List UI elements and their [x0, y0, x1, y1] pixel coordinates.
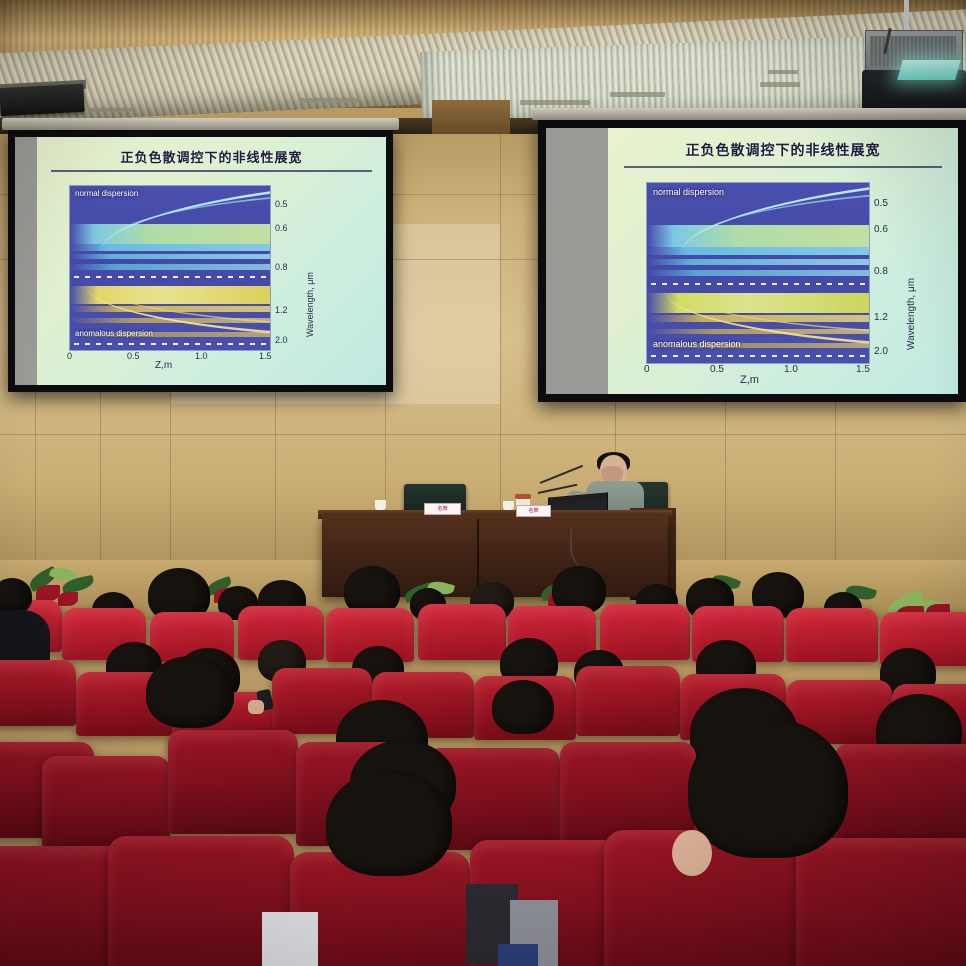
- water-cup-left[interactable]: [375, 500, 386, 510]
- ceiling-vent-6: [88, 108, 136, 112]
- right-slide: 正负色散调控下的非线性展宽: [608, 128, 958, 394]
- right-xtick-3: 1.5: [856, 364, 870, 375]
- left-xaxis-label: Z,m: [155, 360, 172, 371]
- left-xtick-0: 0: [67, 351, 72, 361]
- plot-label-anomalous-dispersion: anomalous dispersion: [75, 330, 153, 338]
- audience-seat[interactable]: [600, 604, 690, 660]
- audience-seat[interactable]: [576, 666, 680, 736]
- audience-head: [0, 578, 32, 614]
- plot-dashed-line-mid: [74, 276, 270, 278]
- right-xtick-1: 0.5: [710, 364, 724, 375]
- right-ytick-3: 1.2: [874, 312, 888, 323]
- left-xtick-3: 1.5: [259, 351, 272, 361]
- plot-label-normal-dispersion: normal dispersion: [75, 190, 138, 198]
- left-ytick-3: 1.2: [275, 305, 288, 315]
- right-slide-plot: normal dispersion anomalous dispersion: [646, 182, 870, 364]
- presenter-face: [601, 466, 623, 482]
- ceiling-vent-5: [768, 70, 798, 74]
- plot-label-anomalous-dispersion: anomalous dispersion: [653, 340, 741, 349]
- plot-band-cyan-3: [70, 264, 270, 270]
- right-xtick-2: 1.0: [784, 364, 798, 375]
- left-projection-screen[interactable]: 正负色散调控下的非线性展宽: [8, 130, 393, 392]
- audience-hand: [248, 700, 264, 714]
- audience-head: [146, 656, 234, 728]
- right-slide-title: 正负色散调控下的非线性展宽: [608, 140, 958, 160]
- right-screen-surface: 正负色散调控下的非线性展宽: [546, 128, 958, 394]
- wall-speaker-left: [0, 84, 85, 116]
- plot-dashed-line-bottom: [651, 355, 869, 357]
- audience-clothing: [262, 912, 318, 966]
- right-projection-screen[interactable]: 正负色散调控下的非线性展宽: [538, 120, 966, 402]
- audience-head-foreground: [326, 770, 452, 876]
- left-yaxis-label: Wavelength, μm: [305, 272, 315, 337]
- left-ytick-1: 0.6: [275, 223, 288, 233]
- left-slide-rule: [51, 170, 372, 172]
- audience-seat[interactable]: [168, 730, 298, 834]
- audience-seat[interactable]: [0, 660, 76, 726]
- left-ytick-0: 0.5: [275, 199, 288, 209]
- audience-head: [492, 680, 554, 734]
- audience-seat[interactable]: [418, 604, 506, 660]
- left-xtick-1: 0.5: [127, 351, 140, 361]
- audience-ear: [672, 830, 712, 876]
- placard-left: 名牌: [424, 503, 461, 515]
- poinsettia-bloom: [58, 592, 78, 606]
- audience-clothing: [498, 944, 538, 966]
- ceiling-vent-3: [610, 92, 665, 97]
- projector-mount-rod: [904, 0, 909, 34]
- left-screen-surface: 正负色散调控下的非线性展宽: [15, 137, 386, 385]
- right-ytick-0: 0.5: [874, 198, 888, 209]
- right-yaxis-label: Wavelength, μm: [906, 278, 917, 350]
- right-ytick-2: 0.8: [874, 266, 888, 277]
- ceiling-vent-4: [760, 82, 800, 87]
- right-xtick-0: 0: [644, 364, 650, 375]
- ceiling-vent-2: [520, 100, 590, 105]
- left-screen-roller: [2, 118, 399, 130]
- left-slide-title: 正负色散调控下的非线性展宽: [37, 147, 386, 166]
- left-slide-plot: normal dispersion anomalous dispersion: [69, 185, 271, 351]
- plot-dashed-line-bottom: [74, 343, 270, 345]
- audience-seat-foreground[interactable]: [796, 838, 966, 966]
- water-cup-right[interactable]: [503, 501, 514, 510]
- audience-seat[interactable]: [786, 608, 878, 662]
- projector-lens: [897, 60, 961, 80]
- plot-label-normal-dispersion: normal dispersion: [653, 188, 724, 197]
- left-xtick-2: 1.0: [195, 351, 208, 361]
- right-screen-roller: [532, 108, 966, 120]
- poinsettia-bloom: [36, 585, 60, 601]
- ceiling-vent-1: [300, 98, 360, 103]
- plot-band-cyan-3: [647, 270, 869, 276]
- left-ytick-2: 0.8: [275, 262, 288, 272]
- lecture-hall-scene: 正负色散调控下的非线性展宽: [0, 0, 966, 966]
- audience-head-foreground: [688, 718, 848, 858]
- right-ytick-4: 2.0: [874, 346, 888, 357]
- placard-right: 名牌: [516, 505, 551, 517]
- audience-seat[interactable]: [834, 744, 966, 850]
- wall-hline-3: [0, 434, 966, 435]
- right-slide-rule: [624, 166, 942, 168]
- coffee-cup-lid: [515, 494, 531, 499]
- right-xaxis-label: Z,m: [740, 374, 759, 386]
- plot-dashed-line-mid: [651, 283, 869, 285]
- left-ytick-4: 2.0: [275, 335, 288, 345]
- left-slide: 正负色散调控下的非线性展宽: [37, 137, 386, 385]
- right-ytick-1: 0.6: [874, 224, 888, 235]
